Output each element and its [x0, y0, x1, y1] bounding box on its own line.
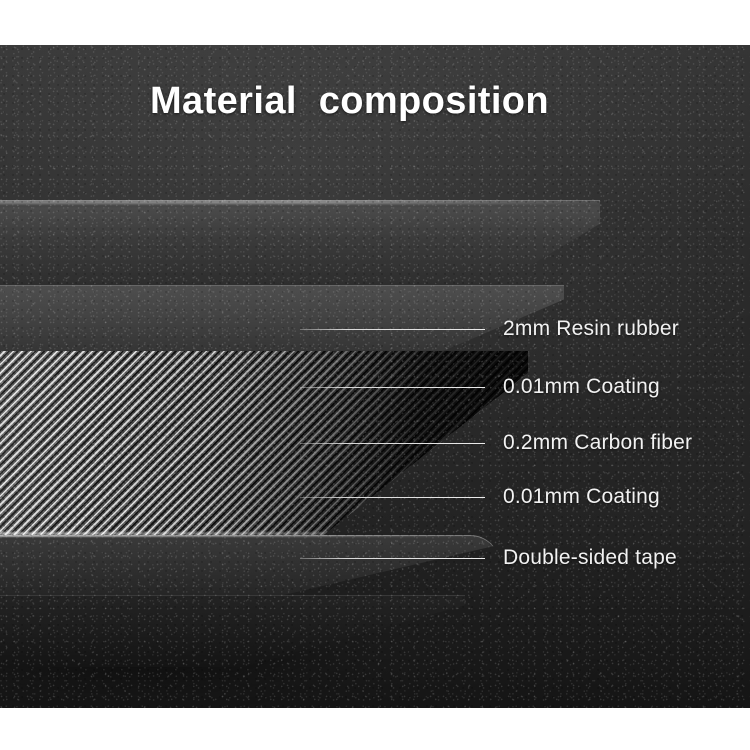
callout-label: Double-sided tape: [503, 546, 677, 570]
leader-line: [300, 558, 485, 559]
leader-line: [300, 329, 485, 330]
leader-line: [300, 387, 485, 388]
callout-label: 2mm Resin rubber: [503, 317, 679, 341]
callout-group: 2mm Resin rubber 0.01mm Coating 0.2mm Ca…: [0, 45, 750, 708]
product-photo-canvas: 2mm Resin rubber 0.01mm Coating 0.2mm Ca…: [0, 45, 750, 708]
leader-line: [300, 497, 485, 498]
leader-line: [300, 443, 485, 444]
callout-label: 0.01mm Coating: [503, 485, 660, 509]
page-title: Material composition: [150, 80, 549, 123]
callout-label: 0.01mm Coating: [503, 375, 660, 399]
callout-label: 0.2mm Carbon fiber: [503, 431, 692, 455]
image-frame: 2mm Resin rubber 0.01mm Coating 0.2mm Ca…: [0, 0, 750, 750]
